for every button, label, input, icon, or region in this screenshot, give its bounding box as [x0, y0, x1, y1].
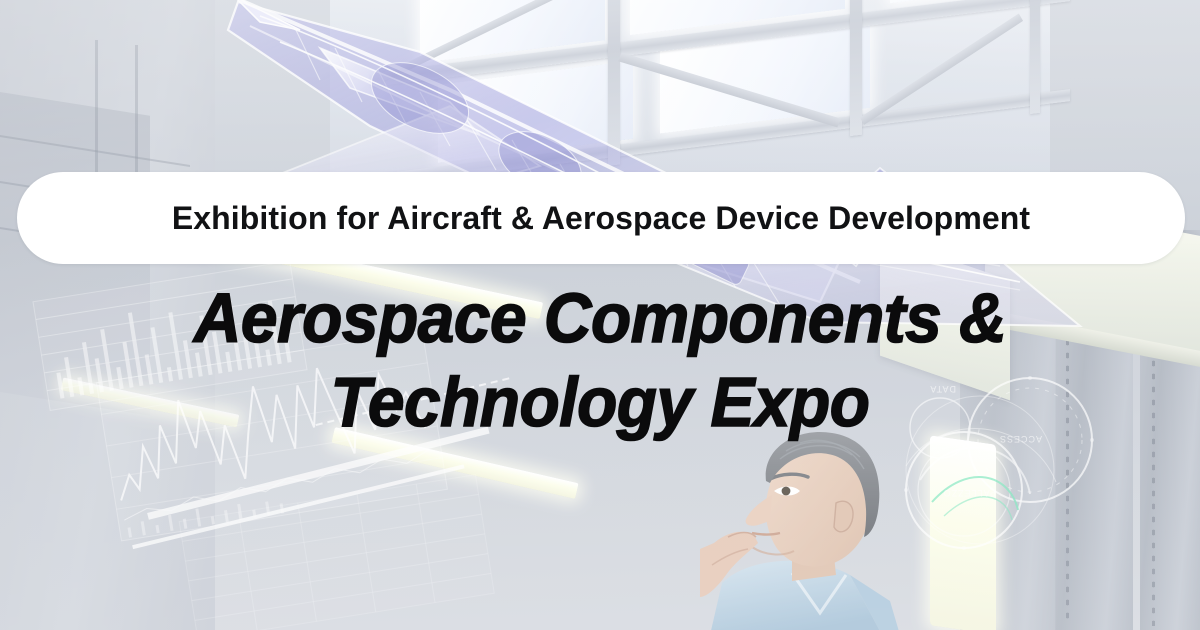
thinking-person-photo [700, 425, 1000, 630]
svg-text:DATA: DATA [929, 384, 956, 394]
subtitle-banner: Exhibition for Aircraft & Aerospace Devi… [17, 172, 1185, 264]
poster-canvas: ACCESS PALLEZZO DATA [0, 0, 1200, 630]
data-chart-overlay-icon [20, 255, 540, 630]
svg-text:ACCESS: ACCESS [999, 434, 1042, 444]
subtitle-text: Exhibition for Aircraft & Aerospace Devi… [172, 200, 1030, 237]
